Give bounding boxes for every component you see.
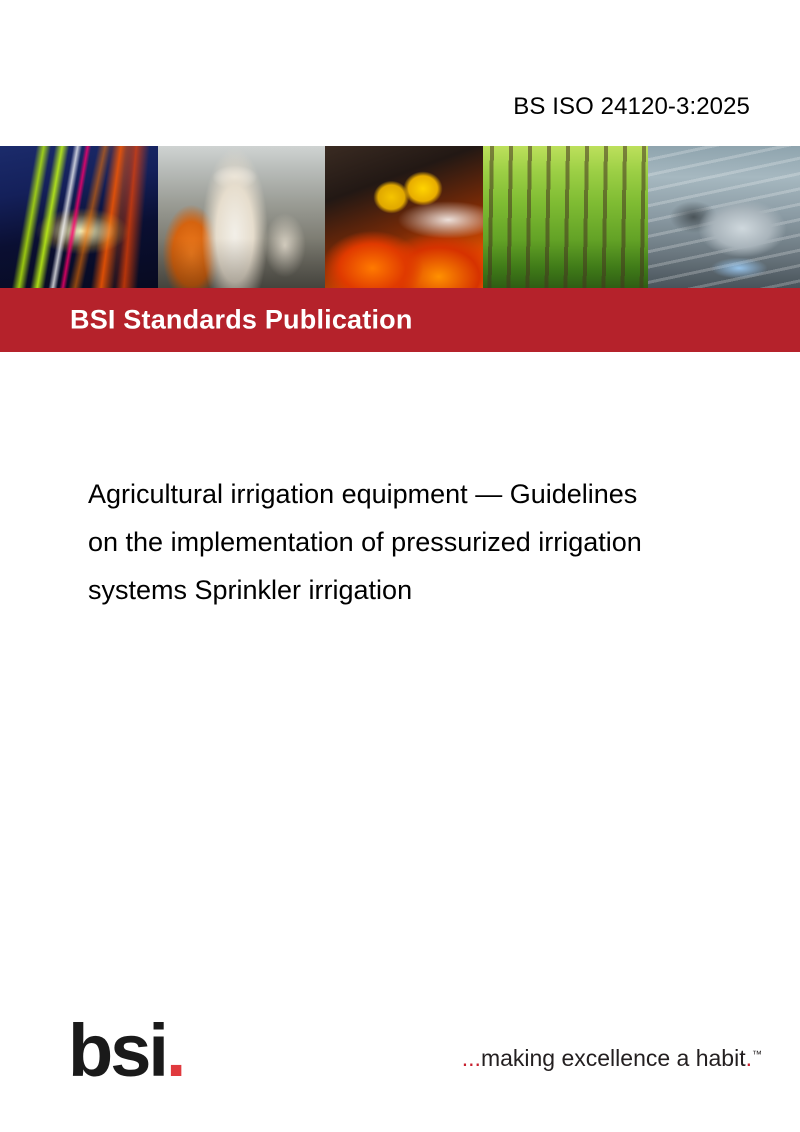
cover-footer: bsi. ...making excellence a habit.™ <box>0 982 800 1132</box>
standard-reference-number: BS ISO 24120-3:2025 <box>513 93 750 121</box>
document-title-line-1: Agricultural irrigation equipment — Guid… <box>88 470 778 518</box>
document-title: Agricultural irrigation equipment — Guid… <box>88 470 778 614</box>
montage-panel-night-traffic-light-trails <box>0 146 158 288</box>
bsi-logo: bsi. <box>68 1014 183 1088</box>
document-title-line-2: on the implementation of pressurized irr… <box>88 518 778 566</box>
montage-panel-pine-forest <box>483 146 648 288</box>
cover-image-montage <box>0 146 800 288</box>
tagline-trademark-symbol: ™ <box>752 1049 762 1060</box>
montage-panel-firefighters-with-hose <box>325 146 483 288</box>
bsi-logo-dot: . <box>166 1009 184 1092</box>
publication-banner-label: BSI Standards Publication <box>70 305 413 336</box>
montage-panel-car-assembly-line <box>648 146 800 288</box>
tagline-text: making excellence a habit <box>481 1045 746 1071</box>
tagline-leading-ellipsis: ... <box>462 1045 481 1071</box>
document-cover-page: BS ISO 24120-3:2025 BSI Standards Public… <box>0 0 800 1132</box>
montage-panel-warehouse-logistics-worker <box>158 146 325 288</box>
publication-banner: BSI Standards Publication <box>0 288 800 352</box>
document-title-line-3: systems Sprinkler irrigation <box>88 566 778 614</box>
bsi-tagline: ...making excellence a habit.™ <box>462 1047 762 1070</box>
bsi-logo-wordmark: bsi <box>68 1009 166 1092</box>
